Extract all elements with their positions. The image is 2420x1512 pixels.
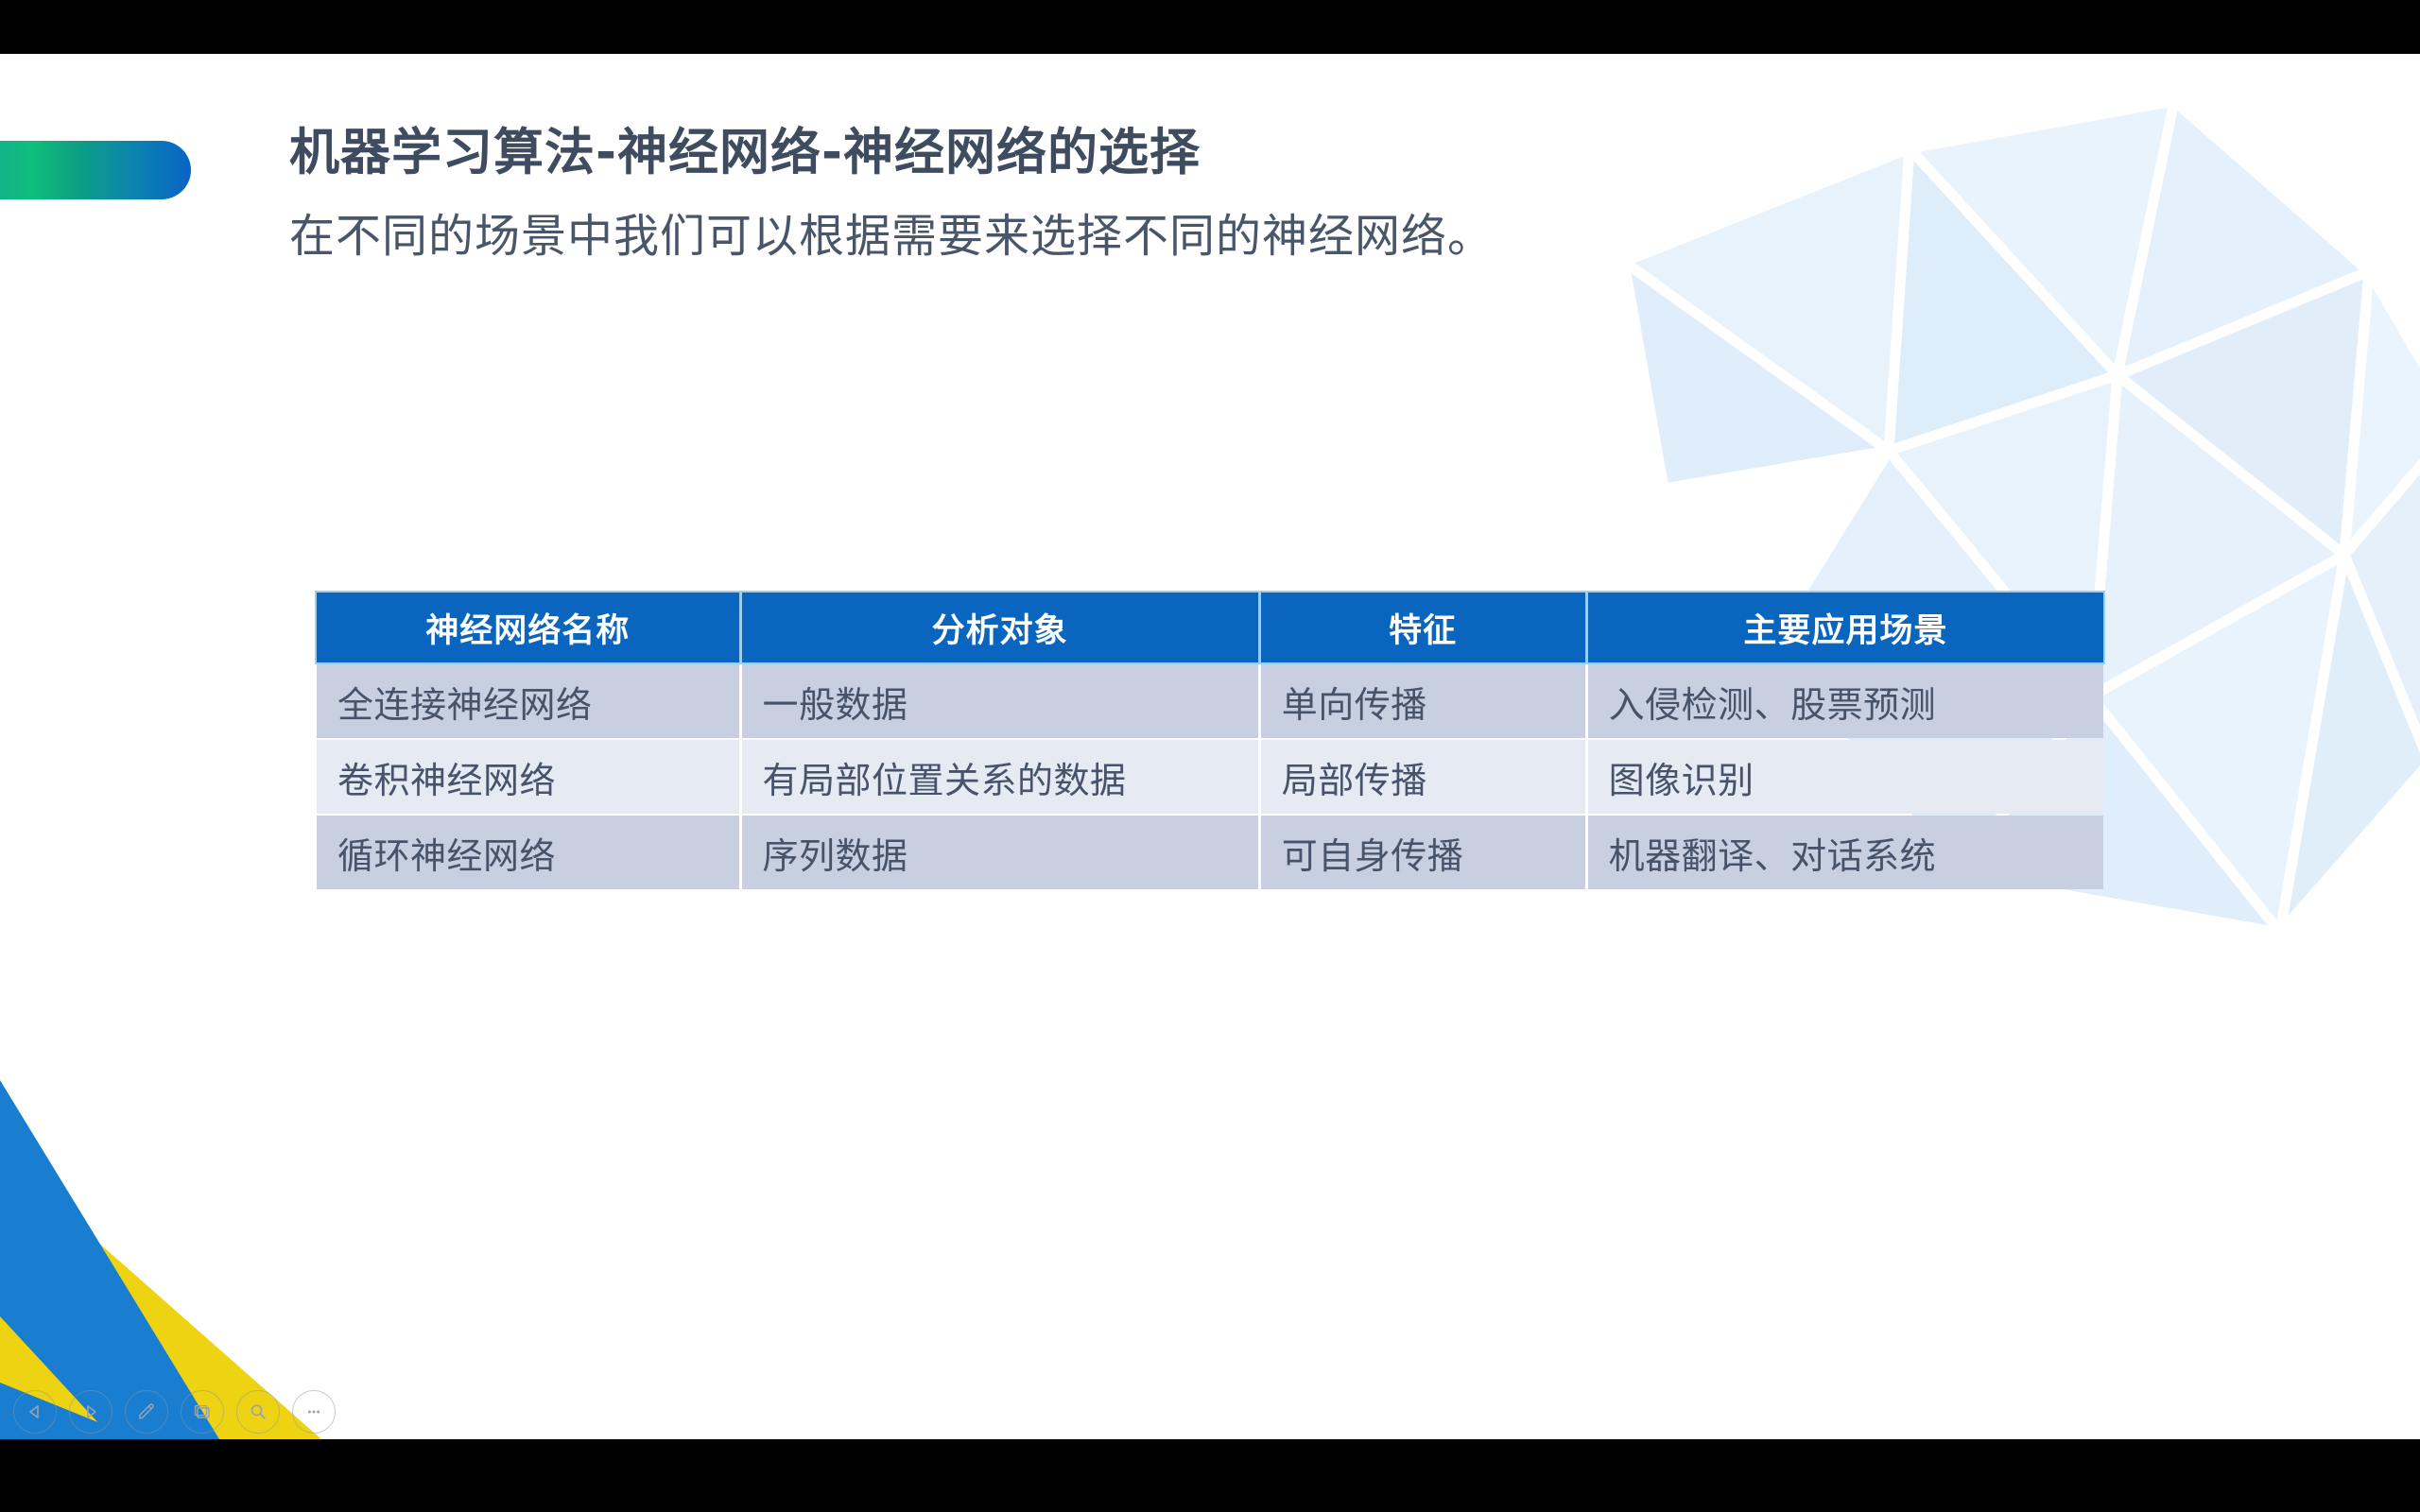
column-header-analysis-object: 分析对象 — [742, 593, 1258, 662]
letterbox-bottom-bar — [0, 1439, 2420, 1512]
magnifier-icon — [248, 1401, 268, 1422]
cell-network-name: 全连接神经网络 — [317, 664, 739, 738]
previous-slide-button[interactable] — [13, 1390, 57, 1434]
table-row: 循环神经网络 序列数据 可自身传播 机器翻译、对话系统 — [317, 816, 2103, 889]
heading-block: 机器学习算法-神经网络-神经网络的选择 在不同的场景中我们可以根据需要来选择不同… — [289, 125, 1494, 264]
title-accent-badge — [0, 141, 191, 199]
cell-feature: 局部传播 — [1261, 740, 1585, 814]
table-header: 神经网络名称 分析对象 特征 主要应用场景 — [317, 593, 2103, 662]
cell-analysis-object: 有局部位置关系的数据 — [742, 740, 1258, 814]
ellipsis-icon — [303, 1401, 324, 1422]
more-options-button[interactable] — [292, 1390, 336, 1434]
cell-feature: 单向传播 — [1261, 664, 1585, 738]
cell-analysis-object: 一般数据 — [742, 664, 1258, 738]
zoom-button[interactable] — [236, 1390, 280, 1434]
triangle-right-icon — [81, 1402, 100, 1421]
table-body: 全连接神经网络 一般数据 单向传播 入侵检测、股票预测 卷积神经网络 有局部位置… — [317, 664, 2103, 889]
cell-feature: 可自身传播 — [1261, 816, 1585, 889]
table-row: 全连接神经网络 一般数据 单向传播 入侵检测、股票预测 — [317, 664, 2103, 738]
page-title: 机器学习算法-神经网络-神经网络的选择 — [289, 125, 1494, 180]
pen-tool-button[interactable] — [125, 1390, 168, 1434]
slide-menu-button[interactable] — [181, 1390, 224, 1434]
next-slide-button[interactable] — [69, 1390, 112, 1434]
column-header-application-scenario: 主要应用场景 — [1588, 593, 2103, 662]
cell-application-scenario: 入侵检测、股票预测 — [1588, 664, 2103, 738]
column-header-network-name: 神经网络名称 — [317, 593, 739, 662]
cell-network-name: 循环神经网络 — [317, 816, 739, 889]
pen-icon — [136, 1401, 157, 1422]
cell-application-scenario: 图像识别 — [1588, 740, 2103, 814]
cell-analysis-object: 序列数据 — [742, 816, 1258, 889]
column-header-feature: 特征 — [1261, 593, 1585, 662]
neural-network-comparison-table: 神经网络名称 分析对象 特征 主要应用场景 全连接神经网络 一般数据 单向传播 … — [314, 591, 2106, 891]
presentation-slide: 机器学习算法-神经网络-神经网络的选择 在不同的场景中我们可以根据需要来选择不同… — [0, 54, 2420, 1439]
page-subtitle: 在不同的场景中我们可以根据需要来选择不同的神经网络。 — [289, 211, 1494, 263]
slides-icon — [192, 1401, 213, 1422]
table-header-row: 神经网络名称 分析对象 特征 主要应用场景 — [317, 593, 2103, 662]
presenter-controls — [13, 1390, 336, 1434]
triangle-left-icon — [26, 1402, 44, 1421]
decorative-ribbon-artwork — [0, 1042, 397, 1439]
screen: 机器学习算法-神经网络-神经网络的选择 在不同的场景中我们可以根据需要来选择不同… — [0, 0, 2420, 1512]
letterbox-top-bar — [0, 0, 2420, 54]
table-row: 卷积神经网络 有局部位置关系的数据 局部传播 图像识别 — [317, 740, 2103, 814]
cell-application-scenario: 机器翻译、对话系统 — [1588, 816, 2103, 889]
cell-network-name: 卷积神经网络 — [317, 740, 739, 814]
